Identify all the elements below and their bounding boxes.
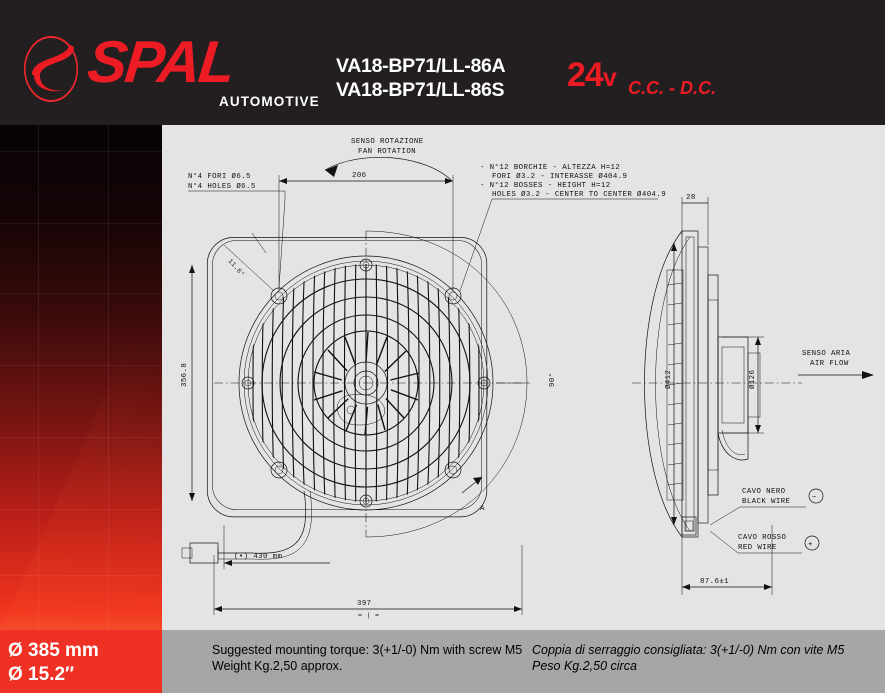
bosses-note-en-1: - N°12 BOSSES - HEIGHT H=12 <box>480 181 611 190</box>
grid-line-h <box>0 437 162 438</box>
brand-wordmark: SPAL <box>85 33 236 92</box>
holes-note-en: N°4 HOLES Ø6.5 <box>188 182 256 191</box>
model-number-1: VA18-BP71/LL-86A <box>336 54 505 78</box>
model-number-2: VA18-BP71/LL-86S <box>336 78 505 102</box>
voltage-label: 24v <box>567 56 617 95</box>
grid-line-h <box>0 223 162 224</box>
wire-black-callout: CAVO NERO BLACK WIRE − <box>710 488 823 525</box>
airflow-indicator: SENSO ARIA AIR FLOW <box>798 350 874 379</box>
section-a-label: A <box>480 505 485 513</box>
side-motor <box>718 337 760 460</box>
grid-line-h <box>0 575 162 576</box>
wire-red-label-it: CAVO ROSSO <box>738 534 787 542</box>
technical-drawing: 90° SENSO ROTAZIONE FAN ROTATION 206 356… <box>162 125 885 630</box>
grid-line-v <box>38 125 39 630</box>
decorative-gradient-panel <box>0 125 162 630</box>
diameter-inch: Ø 15.2″ <box>0 663 162 687</box>
dim-28-label: 28 <box>686 194 696 202</box>
rotation-label-it: SENSO ROTAZIONE <box>351 138 424 146</box>
notes-english: Suggested mounting torque: 3(+1/-0) Nm w… <box>212 642 522 674</box>
grid-line-v <box>108 125 109 630</box>
dim-cable: (•) 430 mm <box>224 525 330 569</box>
notes-english-line-1: Suggested mounting torque: 3(+1/-0) Nm w… <box>212 642 522 658</box>
notes-italian: Coppia di serraggio consigliata: 3(+1/-0… <box>532 642 844 674</box>
wire-black-polarity: − <box>812 494 817 502</box>
datasheet-page: SPAL AUTOMOTIVE VA18-BP71/LL-86A VA18-BP… <box>0 0 885 693</box>
grid-line-h <box>0 293 162 294</box>
grid-line-h <box>0 509 162 510</box>
dim-206-label: 206 <box>352 172 367 180</box>
airflow-arrowhead <box>862 371 874 379</box>
bosses-note-it-2: FORI Ø3.2 - INTERASSE Ø404.9 <box>492 172 627 181</box>
dim-356: 356.8 <box>181 265 195 501</box>
dim-876-label: 87.6±1 <box>700 578 729 586</box>
side-body <box>682 231 718 537</box>
bosses-note-en-2: HOLES Ø3.2 - CENTER TO CENTER Ø404.9 <box>492 190 666 199</box>
model-numbers: VA18-BP71/LL-86A VA18-BP71/LL-86S <box>336 54 505 102</box>
wire-red-label-en: RED WIRE <box>738 544 777 552</box>
wire-black-label-en: BLACK WIRE <box>742 498 791 506</box>
grid-line-h <box>0 365 162 366</box>
logo-swoosh-icon <box>30 42 74 96</box>
voltage-number: 24 <box>567 56 603 94</box>
front-view: 90° SENSO ROTAZIONE FAN ROTATION 206 356… <box>181 138 666 619</box>
dim-angle-label: 90° <box>548 372 557 387</box>
gradient-streak <box>0 336 162 630</box>
dim-hole-angle-label: 11.6° <box>227 257 247 278</box>
dim-126: Ø126 <box>722 337 764 433</box>
airflow-label-it: SENSO ARIA <box>802 350 851 358</box>
side-view: 28 Ø412 Ø126 SENSO ARIA AIR FL <box>632 194 874 595</box>
wire-black-label-it: CAVO NERO <box>742 488 786 496</box>
brand-tagline: AUTOMOTIVE <box>219 94 320 109</box>
holes-note-it: N°4 FORI Ø6.5 <box>188 172 251 181</box>
dim-397-label: 397 <box>357 600 372 608</box>
diameter-mm: Ø 385 mm <box>0 630 162 663</box>
voltage-unit: v <box>603 64 617 92</box>
wire-red-polarity: + <box>808 541 813 549</box>
dim-cable-label: (•) 430 mm <box>234 553 283 561</box>
notes-italian-line-2: Peso Kg.2,50 circa <box>532 658 844 674</box>
grid-line-h <box>0 151 162 152</box>
notes-italian-line-1: Coppia di serraggio consigliata: 3(+1/-0… <box>532 642 844 658</box>
wire-red-callout: CAVO ROSSO RED WIRE + <box>710 531 819 553</box>
bosses-note: - N°12 BORCHIE - ALTEZZA H=12 FORI Ø3.2 … <box>460 163 666 291</box>
bosses-note-it-1: - N°12 BORCHIE - ALTEZZA H=12 <box>480 163 620 172</box>
dim-hole-angle: 11.6° <box>224 233 274 291</box>
spal-logo-icon <box>18 36 84 102</box>
rotation-label-en: FAN ROTATION <box>358 148 416 156</box>
notes-english-line-2: Weight Kg.2,50 approx. <box>212 658 522 674</box>
diameter-spec-box: Ø 385 mm Ø 15.2″ <box>0 630 162 693</box>
dim-356-label: 356.8 <box>181 363 189 387</box>
section-sweep-arc <box>366 231 527 537</box>
dim-412-label: Ø412 <box>664 370 673 389</box>
header-bar: SPAL AUTOMOTIVE VA18-BP71/LL-86A VA18-BP… <box>0 0 885 125</box>
rotation-arc <box>325 157 452 181</box>
dim-126-label: Ø126 <box>748 370 757 389</box>
dim-397-tol: = | = <box>358 612 379 619</box>
notes-bar: Suggested mounting torque: 3(+1/-0) Nm w… <box>162 630 885 693</box>
airflow-label-en: AIR FLOW <box>810 360 849 368</box>
current-type-label: C.C. - D.C. <box>628 78 716 99</box>
